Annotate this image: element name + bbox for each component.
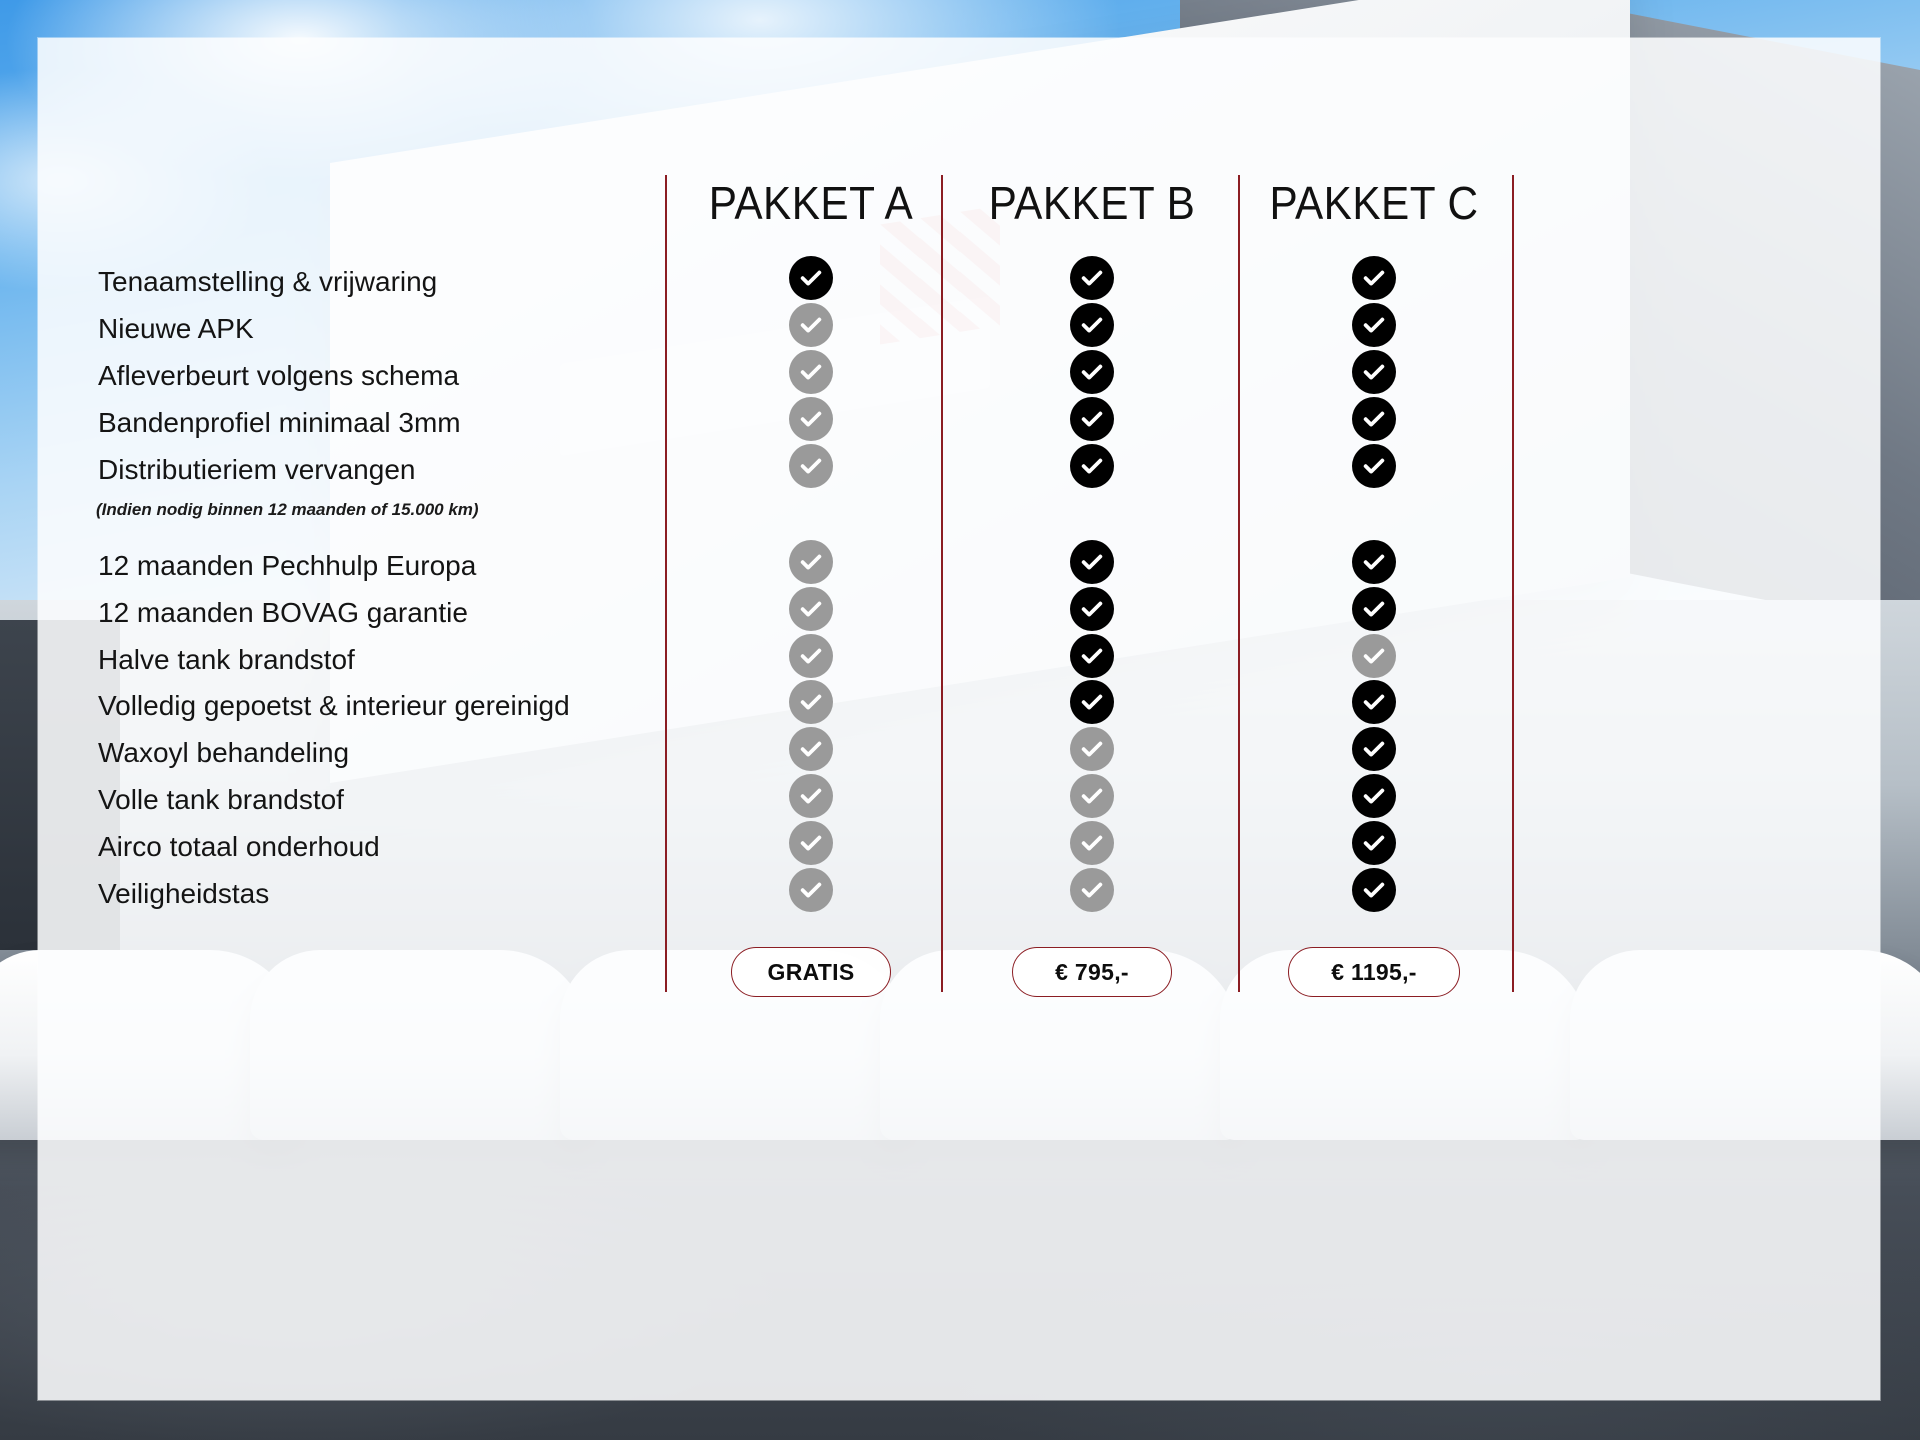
feature-note: (Indien nodig binnen 12 maanden of 15.00…	[96, 500, 479, 520]
check-icon-excluded	[789, 727, 833, 771]
feature-label: Halve tank brandstof	[98, 646, 355, 674]
check-icon-excluded	[789, 680, 833, 724]
check-icon-excluded	[789, 303, 833, 347]
check-icon-excluded	[789, 397, 833, 441]
feature-label: 12 maanden BOVAG garantie	[98, 599, 468, 627]
price-badge-c[interactable]: € 1195,-	[1288, 947, 1460, 997]
check-icon-excluded	[1070, 868, 1114, 912]
check-icon-included	[1352, 540, 1396, 584]
package-header-b: PAKKET B	[945, 176, 1239, 238]
check-icon-included	[1352, 303, 1396, 347]
check-icon-included	[1070, 634, 1114, 678]
check-icon-included	[1070, 680, 1114, 724]
feature-label: Airco totaal onderhoud	[98, 833, 380, 861]
check-icon-included	[1352, 444, 1396, 488]
check-icon-excluded	[789, 868, 833, 912]
check-icon-included	[1070, 350, 1114, 394]
price-badge-b[interactable]: € 795,-	[1012, 947, 1172, 997]
check-icon-included	[1352, 774, 1396, 818]
check-icon-included	[1070, 444, 1114, 488]
check-icon-included	[1352, 397, 1396, 441]
check-icon-included	[1352, 868, 1396, 912]
feature-label: 12 maanden Pechhulp Europa	[98, 552, 476, 580]
feature-label: Bandenprofiel minimaal 3mm	[98, 409, 461, 437]
column-separator-2	[941, 175, 943, 992]
check-icon-included	[1352, 587, 1396, 631]
feature-label: Tenaamstelling & vrijwaring	[98, 268, 437, 296]
feature-label: Distributieriem vervangen	[98, 456, 415, 484]
check-icon-excluded	[789, 774, 833, 818]
package-header-a: PAKKET A	[664, 176, 958, 238]
pricing-table-card: PAKKET APAKKET BPAKKET CTenaamstelling &…	[38, 38, 1880, 1400]
package-header-c: PAKKET C	[1227, 176, 1521, 238]
check-icon-included	[1070, 303, 1114, 347]
check-icon-excluded	[789, 634, 833, 678]
feature-label: Veiligheidstas	[98, 880, 269, 908]
check-icon-excluded	[789, 587, 833, 631]
check-icon-included	[789, 256, 833, 300]
check-icon-included	[1352, 727, 1396, 771]
feature-label: Afleverbeurt volgens schema	[98, 362, 459, 390]
check-icon-excluded	[1352, 634, 1396, 678]
check-icon-included	[1070, 540, 1114, 584]
check-icon-included	[1070, 397, 1114, 441]
check-icon-excluded	[789, 444, 833, 488]
check-icon-excluded	[789, 540, 833, 584]
column-separator-4	[1512, 175, 1514, 992]
check-icon-included	[1070, 587, 1114, 631]
check-icon-excluded	[789, 821, 833, 865]
check-icon-excluded	[1070, 774, 1114, 818]
pricing-table: PAKKET APAKKET BPAKKET CTenaamstelling &…	[38, 38, 1880, 1400]
check-icon-included	[1352, 680, 1396, 724]
column-separator-1	[665, 175, 667, 992]
feature-label: Waxoyl behandeling	[98, 739, 349, 767]
check-icon-included	[1352, 821, 1396, 865]
check-icon-excluded	[1070, 727, 1114, 771]
check-icon-included	[1352, 256, 1396, 300]
check-icon-excluded	[789, 350, 833, 394]
check-icon-included	[1070, 256, 1114, 300]
column-separator-3	[1238, 175, 1240, 992]
price-badge-a[interactable]: GRATIS	[731, 947, 891, 997]
check-icon-included	[1352, 350, 1396, 394]
check-icon-excluded	[1070, 821, 1114, 865]
feature-label: Volledig gepoetst & interieur gereinigd	[98, 692, 570, 720]
feature-label: Nieuwe APK	[98, 315, 254, 343]
feature-label: Volle tank brandstof	[98, 786, 344, 814]
